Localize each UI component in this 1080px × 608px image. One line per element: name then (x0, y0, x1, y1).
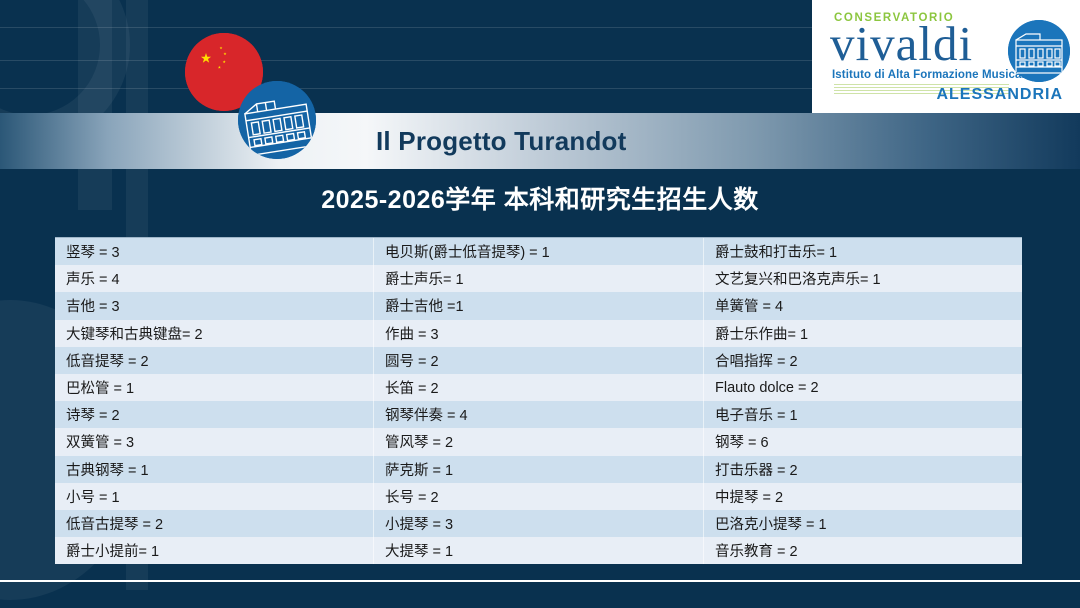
table-cell: 音乐教育 = 2 (704, 537, 1022, 564)
table-cell: 诗琴 = 2 (55, 401, 374, 428)
table-cell: 电贝斯(爵士低音提琴) = 1 (374, 238, 704, 265)
table-cell: 爵士吉他 =1 (374, 292, 704, 319)
table-cell: 低音提琴 = 2 (55, 347, 374, 374)
table-cell: 双簧管 = 3 (55, 428, 374, 455)
table-row: 低音古提琴 = 2小提琴 = 3巴洛克小提琴 = 1 (55, 510, 1022, 537)
logo-tagline-text: Istituto di Alta Formazione Musicale (832, 69, 1031, 81)
table-cell: 钢琴伴奏 = 4 (374, 401, 704, 428)
table-cell: 爵士声乐= 1 (374, 265, 704, 292)
table-row: 声乐 = 4爵士声乐= 1文艺复兴和巴洛克声乐= 1 (55, 265, 1022, 292)
table-cell: 爵士鼓和打击乐= 1 (704, 238, 1022, 265)
conservatory-building-icon (238, 81, 316, 159)
table-cell: 打击乐器 = 2 (704, 456, 1022, 483)
bottom-divider (0, 580, 1080, 582)
table-row: 爵士小提前= 1大提琴 = 1音乐教育 = 2 (55, 537, 1022, 564)
page-title: Il Progetto Turandot (376, 126, 627, 157)
table-cell: 长笛 = 2 (374, 374, 704, 401)
table-cell: 长号 = 2 (374, 483, 704, 510)
table-cell: 吉他 = 3 (55, 292, 374, 319)
table-row: 大键琴和古典键盘= 2作曲 = 3爵士乐作曲= 1 (55, 320, 1022, 347)
table-cell: 古典钢琴 = 1 (55, 456, 374, 483)
watermark-shape-2 (78, 0, 112, 210)
table-row: 双簧管 = 3管风琴 = 2钢琴 = 6 (55, 428, 1022, 455)
table-cell: 钢琴 = 6 (704, 428, 1022, 455)
table-row: 小号 = 1长号 = 2中提琴 = 2 (55, 483, 1022, 510)
table-row: 诗琴 = 2钢琴伴奏 = 4电子音乐 = 1 (55, 401, 1022, 428)
table-cell: Flauto dolce = 2 (704, 374, 1022, 401)
table-cell: 小号 = 1 (55, 483, 374, 510)
table-cell: 萨克斯 = 1 (374, 456, 704, 483)
table-row: 巴松管 = 1长笛 = 2Flauto dolce = 2 (55, 374, 1022, 401)
table-cell: 电子音乐 = 1 (704, 401, 1022, 428)
table-cell: 作曲 = 3 (374, 320, 704, 347)
page-subtitle: 2025-2026学年 本科和研究生招生人数 (0, 180, 1080, 216)
logo-wordmark: vivaldi (830, 19, 973, 68)
table-row: 古典钢琴 = 1萨克斯 = 1打击乐器 = 2 (55, 456, 1022, 483)
logo-building-icon (1008, 20, 1070, 82)
table-row: 低音提琴 = 2圆号 = 2合唱指挥 = 2 (55, 347, 1022, 374)
table-cell: 竖琴 = 3 (55, 238, 374, 265)
table-cell: 合唱指挥 = 2 (704, 347, 1022, 374)
table-row: 竖琴 = 3电贝斯(爵士低音提琴) = 1爵士鼓和打击乐= 1 (55, 238, 1022, 265)
table-cell: 管风琴 = 2 (374, 428, 704, 455)
table-cell: 爵士小提前= 1 (55, 537, 374, 564)
table-cell: 声乐 = 4 (55, 265, 374, 292)
logo-city-text: ALESSANDRIA (936, 86, 1063, 104)
table-cell: 巴洛克小提琴 = 1 (704, 510, 1022, 537)
table-cell: 巴松管 = 1 (55, 374, 374, 401)
table-cell: 单簧管 = 4 (704, 292, 1022, 319)
table-cell: 文艺复兴和巴洛克声乐= 1 (704, 265, 1022, 292)
table-cell: 中提琴 = 2 (704, 483, 1022, 510)
table-cell: 低音古提琴 = 2 (55, 510, 374, 537)
table-row: 吉他 = 3爵士吉他 =1单簧管 = 4 (55, 292, 1022, 319)
title-band: Il Progetto Turandot (0, 113, 1080, 169)
table-cell: 大提琴 = 1 (374, 537, 704, 564)
table-cell: 大键琴和古典键盘= 2 (55, 320, 374, 347)
conservatorio-vivaldi-logo: CONSERVATORIO vivaldi Istituto di Alta F… (812, 0, 1080, 113)
table-cell: 爵士乐作曲= 1 (704, 320, 1022, 347)
table-cell: 小提琴 = 3 (374, 510, 704, 537)
enrollment-table: 竖琴 = 3电贝斯(爵士低音提琴) = 1爵士鼓和打击乐= 1声乐 = 4爵士声… (55, 237, 1022, 564)
table-cell: 圆号 = 2 (374, 347, 704, 374)
